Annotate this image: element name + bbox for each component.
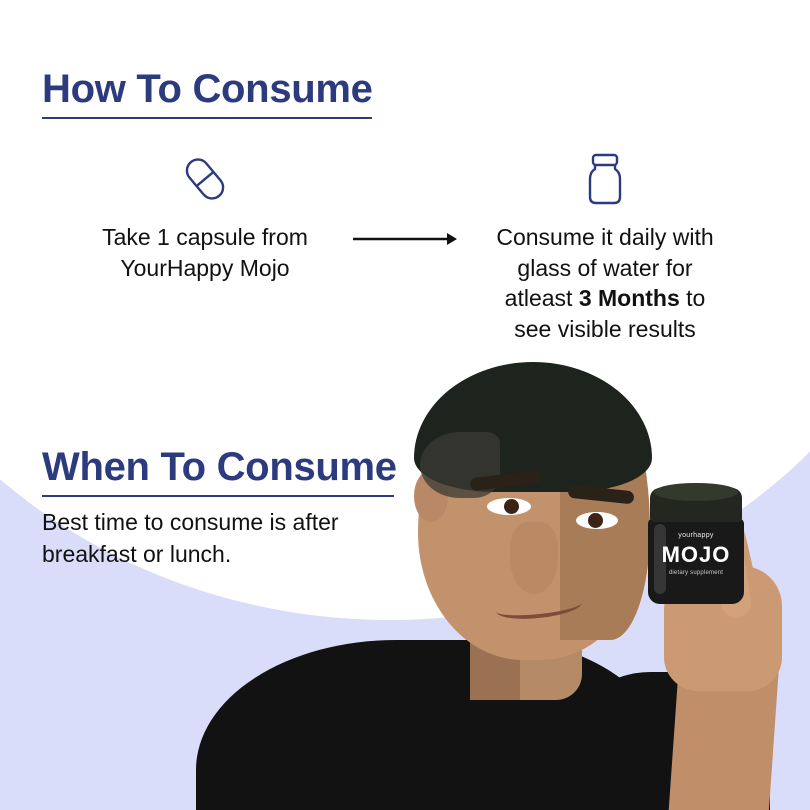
step1-line2: YourHappy Mojo xyxy=(120,255,289,281)
step2-line4: see visible results xyxy=(514,316,696,342)
poster-canvas: How To Consume Take 1 capsule from YourH… xyxy=(0,0,810,810)
step2-line2: glass of water for xyxy=(517,255,692,281)
step2-line3-prefix: atleast xyxy=(505,285,579,311)
how-to-consume-underline xyxy=(42,117,372,119)
steps-row: Take 1 capsule from YourHappy Mojo Consu… xyxy=(0,150,810,344)
when-to-consume-body: Best time to consume is after breakfast … xyxy=(42,507,397,570)
jar-icon xyxy=(583,150,627,208)
when-to-consume-underline xyxy=(42,495,394,497)
when-to-consume-heading-block: When To Consume Best time to consume is … xyxy=(42,446,397,570)
step2-duration-highlight: 3 Months xyxy=(579,285,680,311)
how-to-consume-title: How To Consume xyxy=(42,68,373,110)
when-to-consume-title: When To Consume xyxy=(42,446,397,488)
step1-line1: Take 1 capsule from xyxy=(102,224,308,250)
step2-line1: Consume it daily with xyxy=(496,224,713,250)
capsule-icon xyxy=(182,150,228,208)
when-body-line1: Best time to consume is after xyxy=(42,509,339,535)
how-to-consume-heading-block: How To Consume xyxy=(42,68,373,119)
step-take-capsule-text: Take 1 capsule from YourHappy Mojo xyxy=(96,222,314,283)
arrow-right-icon xyxy=(345,150,465,248)
step-consume-daily: Consume it daily with glass of water for… xyxy=(465,150,745,344)
step2-line3-suffix: to xyxy=(680,285,706,311)
step-take-capsule: Take 1 capsule from YourHappy Mojo xyxy=(65,150,345,283)
when-body-line2: breakfast or lunch. xyxy=(42,541,231,567)
step-consume-daily-text: Consume it daily with glass of water for… xyxy=(490,222,719,344)
